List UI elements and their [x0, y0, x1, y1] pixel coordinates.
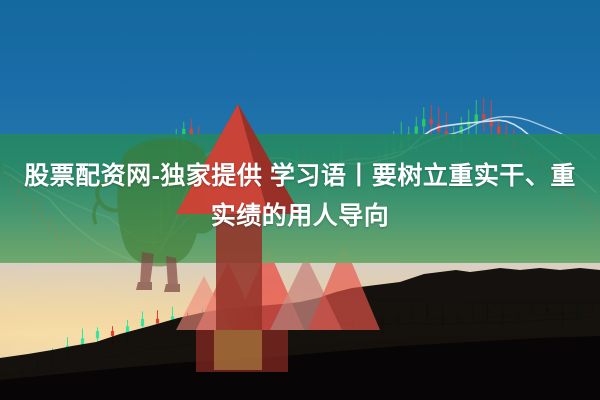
title-line-1: 股票配资网-独家提供 学习语丨要树立重实干、重 [24, 156, 576, 196]
banner-image: 股票配资网-独家提供 学习语丨要树立重实干、重 实绩的用人导向 [0, 0, 600, 400]
page-title: 股票配资网-独家提供 学习语丨要树立重实干、重 实绩的用人导向 [0, 156, 600, 256]
title-line-2: 实绩的用人导向 [211, 196, 390, 236]
